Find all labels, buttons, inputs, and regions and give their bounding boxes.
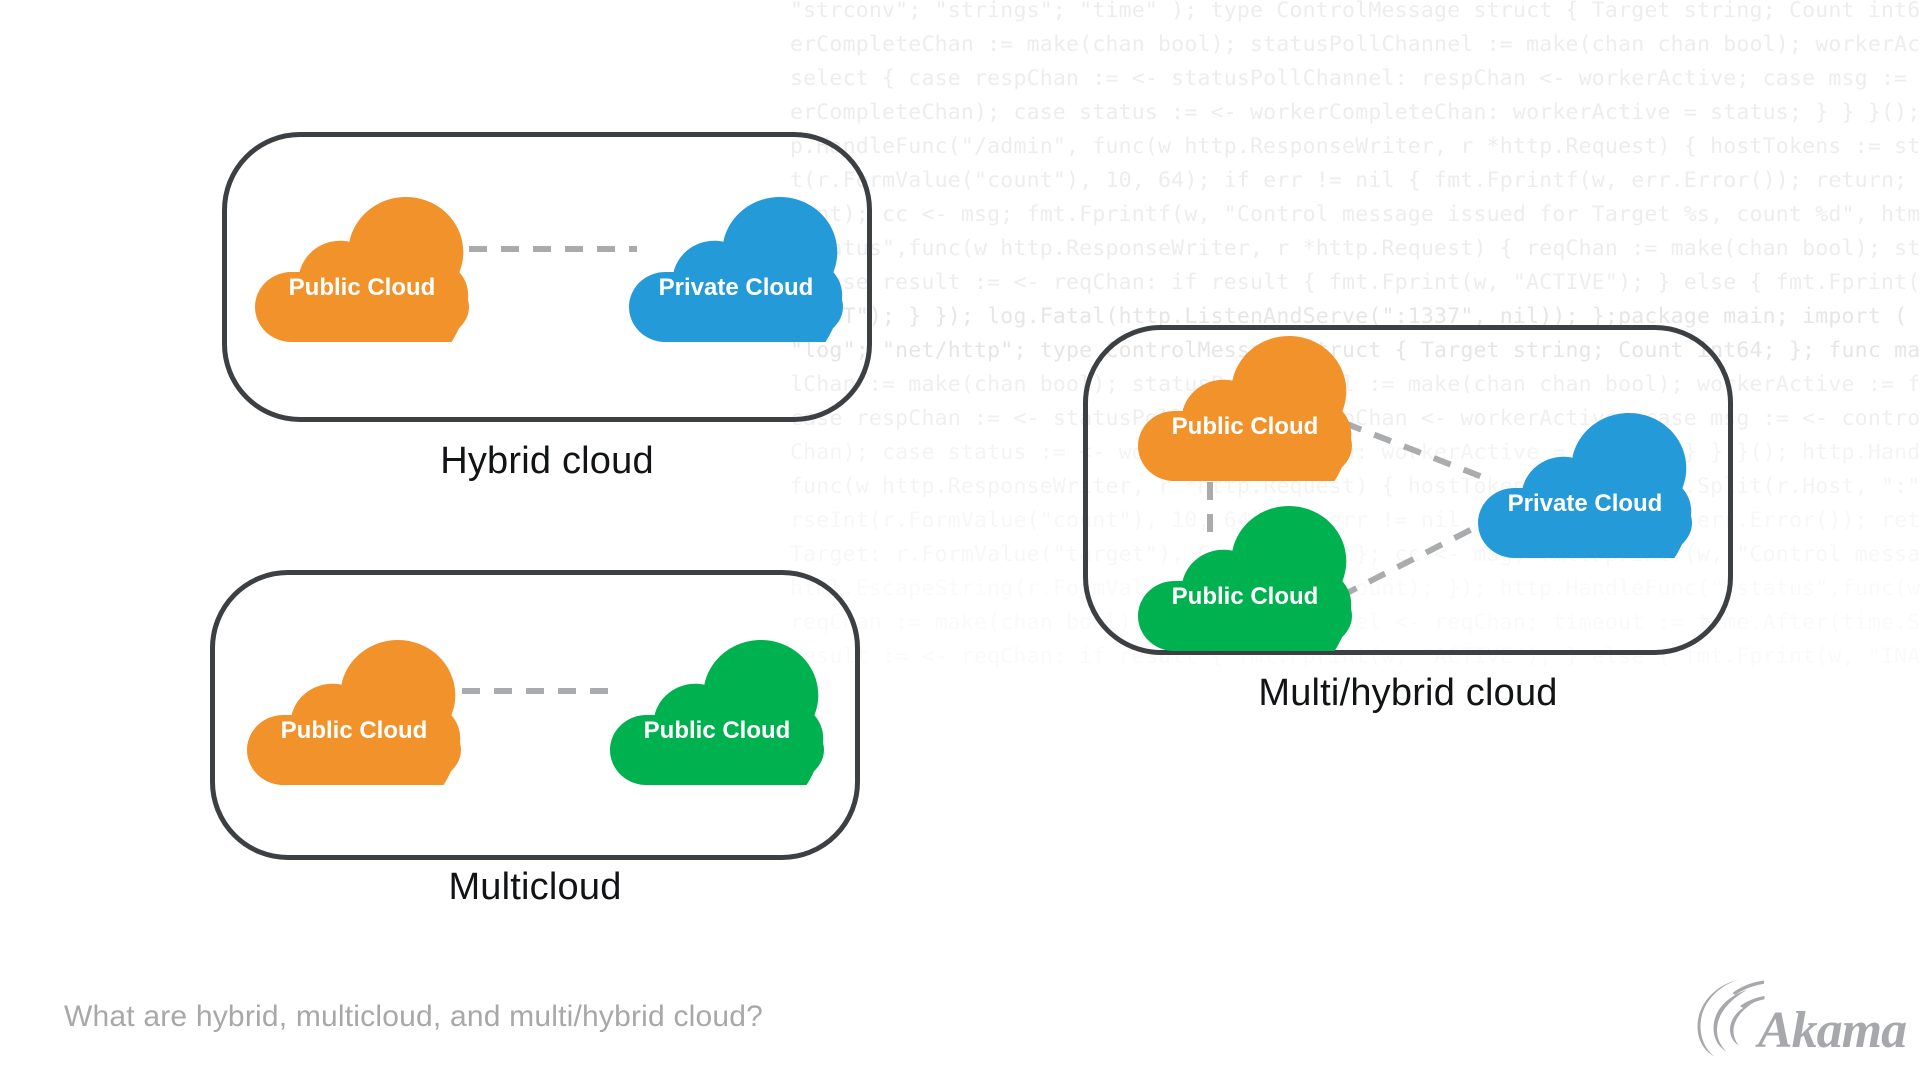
- code-line: p.HandleFunc("/admin", func(w http.Respo…: [790, 130, 1920, 164]
- code-line: erCompleteChan := make(chan bool); statu…: [790, 28, 1920, 62]
- code-line: erCompleteChan); case status := <- worke…: [790, 96, 1920, 130]
- cloud-public-multihybrid-top: Public Cloud: [1138, 336, 1352, 481]
- code-line: t(r.FormValue("count"), 10, 64); if err …: [790, 164, 1920, 198]
- code-line: ount); cc <- msg; fmt.Fprintf(w, "Contro…: [790, 198, 1920, 232]
- cloud-public-multicloud-right: Public Cloud: [610, 640, 824, 785]
- cloud-public-multihybrid-bottom: Public Cloud: [1138, 506, 1352, 651]
- cloud-private-multihybrid: Private Cloud: [1478, 413, 1692, 558]
- akamai-logo: Akamai: [1692, 975, 1907, 1057]
- code-line: select { case respChan := <- statusPollC…: [790, 62, 1920, 96]
- card-caption-hybrid: Hybrid cloud: [222, 440, 872, 483]
- cloud-public-multicloud-left: Public Cloud: [247, 640, 461, 785]
- cloud-private-hybrid: Private Cloud: [629, 197, 843, 342]
- slide-canvas: "strconv"; "strings"; "time" ); type Con…: [0, 0, 1920, 1080]
- code-line: { case result := <- reqChan: if result {…: [790, 266, 1920, 300]
- svg-text:Akamai: Akamai: [1755, 1002, 1907, 1057]
- cloud-public-hybrid: Public Cloud: [255, 197, 469, 342]
- code-line: /status",func(w http.ResponseWriter, r *…: [790, 232, 1920, 266]
- footer-caption: What are hybrid, multicloud, and multi/h…: [64, 1000, 763, 1034]
- code-line: "strconv"; "strings"; "time" ); type Con…: [790, 0, 1920, 28]
- card-caption-multi-hybrid: Multi/hybrid cloud: [1083, 672, 1733, 715]
- card-caption-multicloud: Multicloud: [210, 866, 860, 909]
